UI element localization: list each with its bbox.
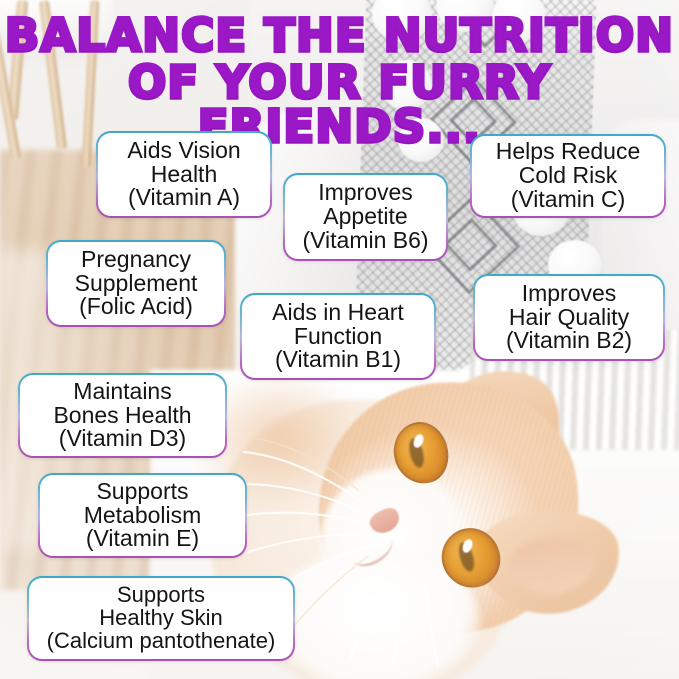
callout-calcium-pantothenate[interactable]: Supports Healthy Skin (Calcium pantothen… <box>27 576 295 661</box>
callout-line: Metabolism <box>84 504 202 528</box>
callout-line: Supports <box>117 584 205 607</box>
callout-line: Helps Reduce <box>496 140 640 164</box>
callout-line: (Folic Acid) <box>79 295 193 319</box>
callout-vitamin-e[interactable]: Supports Metabolism (Vitamin E) <box>38 473 247 558</box>
callout-line: Healthy Skin <box>99 607 223 630</box>
callout-line: (Vitamin B6) <box>302 229 428 253</box>
callout-content: Maintains Bones Health (Vitamin D3) <box>20 375 225 456</box>
callout-content: Supports Metabolism (Vitamin E) <box>40 475 245 556</box>
callout-folic-acid[interactable]: Pregnancy Supplement (Folic Acid) <box>46 240 226 327</box>
callout-line: Supports <box>96 480 188 504</box>
callout-line: (Vitamin B2) <box>506 329 632 353</box>
callout-vitamin-b2[interactable]: Improves Hair Quality (Vitamin B2) <box>473 274 665 361</box>
callout-line: Health <box>151 163 217 187</box>
callout-line: Improves <box>522 282 617 306</box>
callout-vitamin-b6[interactable]: Improves Appetite (Vitamin B6) <box>283 173 448 261</box>
poster-canvas: Balance the Nutrition Of Your Furry Frie… <box>0 0 679 679</box>
callout-line: (Vitamin B1) <box>275 348 401 372</box>
callout-line: Improves <box>318 181 413 205</box>
callout-content: Improves Hair Quality (Vitamin B2) <box>475 276 663 359</box>
callout-vitamin-a[interactable]: Aids Vision Health (Vitamin A) <box>96 131 272 218</box>
callout-content: Pregnancy Supplement (Folic Acid) <box>48 242 224 325</box>
callout-vitamin-d3[interactable]: Maintains Bones Health (Vitamin D3) <box>18 373 227 458</box>
callout-line: Cold Risk <box>519 164 617 188</box>
callout-content: Helps Reduce Cold Risk (Vitamin C) <box>472 136 664 216</box>
callout-content: Aids in Heart Function (Vitamin B1) <box>242 295 434 378</box>
callout-content: Aids Vision Health (Vitamin A) <box>98 133 270 216</box>
callout-line: Aids in Heart <box>272 301 404 325</box>
callout-vitamin-b1[interactable]: Aids in Heart Function (Vitamin B1) <box>240 293 436 380</box>
callout-line: Supplement <box>75 272 198 296</box>
callout-line: Aids Vision <box>127 139 240 163</box>
callout-line: Function <box>294 325 382 349</box>
callout-line: Bones Health <box>53 404 191 428</box>
callout-line: (Vitamin E) <box>86 527 199 551</box>
callout-content: Improves Appetite (Vitamin B6) <box>285 175 446 259</box>
callout-line: (Vitamin A) <box>128 186 240 210</box>
callout-vitamin-c[interactable]: Helps Reduce Cold Risk (Vitamin C) <box>470 134 666 218</box>
callout-line: (Vitamin D3) <box>59 427 186 451</box>
callout-line: Maintains <box>73 380 171 404</box>
callout-line: (Calcium pantothenate) <box>47 630 276 653</box>
callout-line: Appetite <box>323 205 407 229</box>
callout-line: Pregnancy <box>81 248 191 272</box>
callout-line: (Vitamin C) <box>511 188 626 212</box>
callout-line: Hair Quality <box>509 306 629 330</box>
callout-content: Supports Healthy Skin (Calcium pantothen… <box>29 578 293 659</box>
